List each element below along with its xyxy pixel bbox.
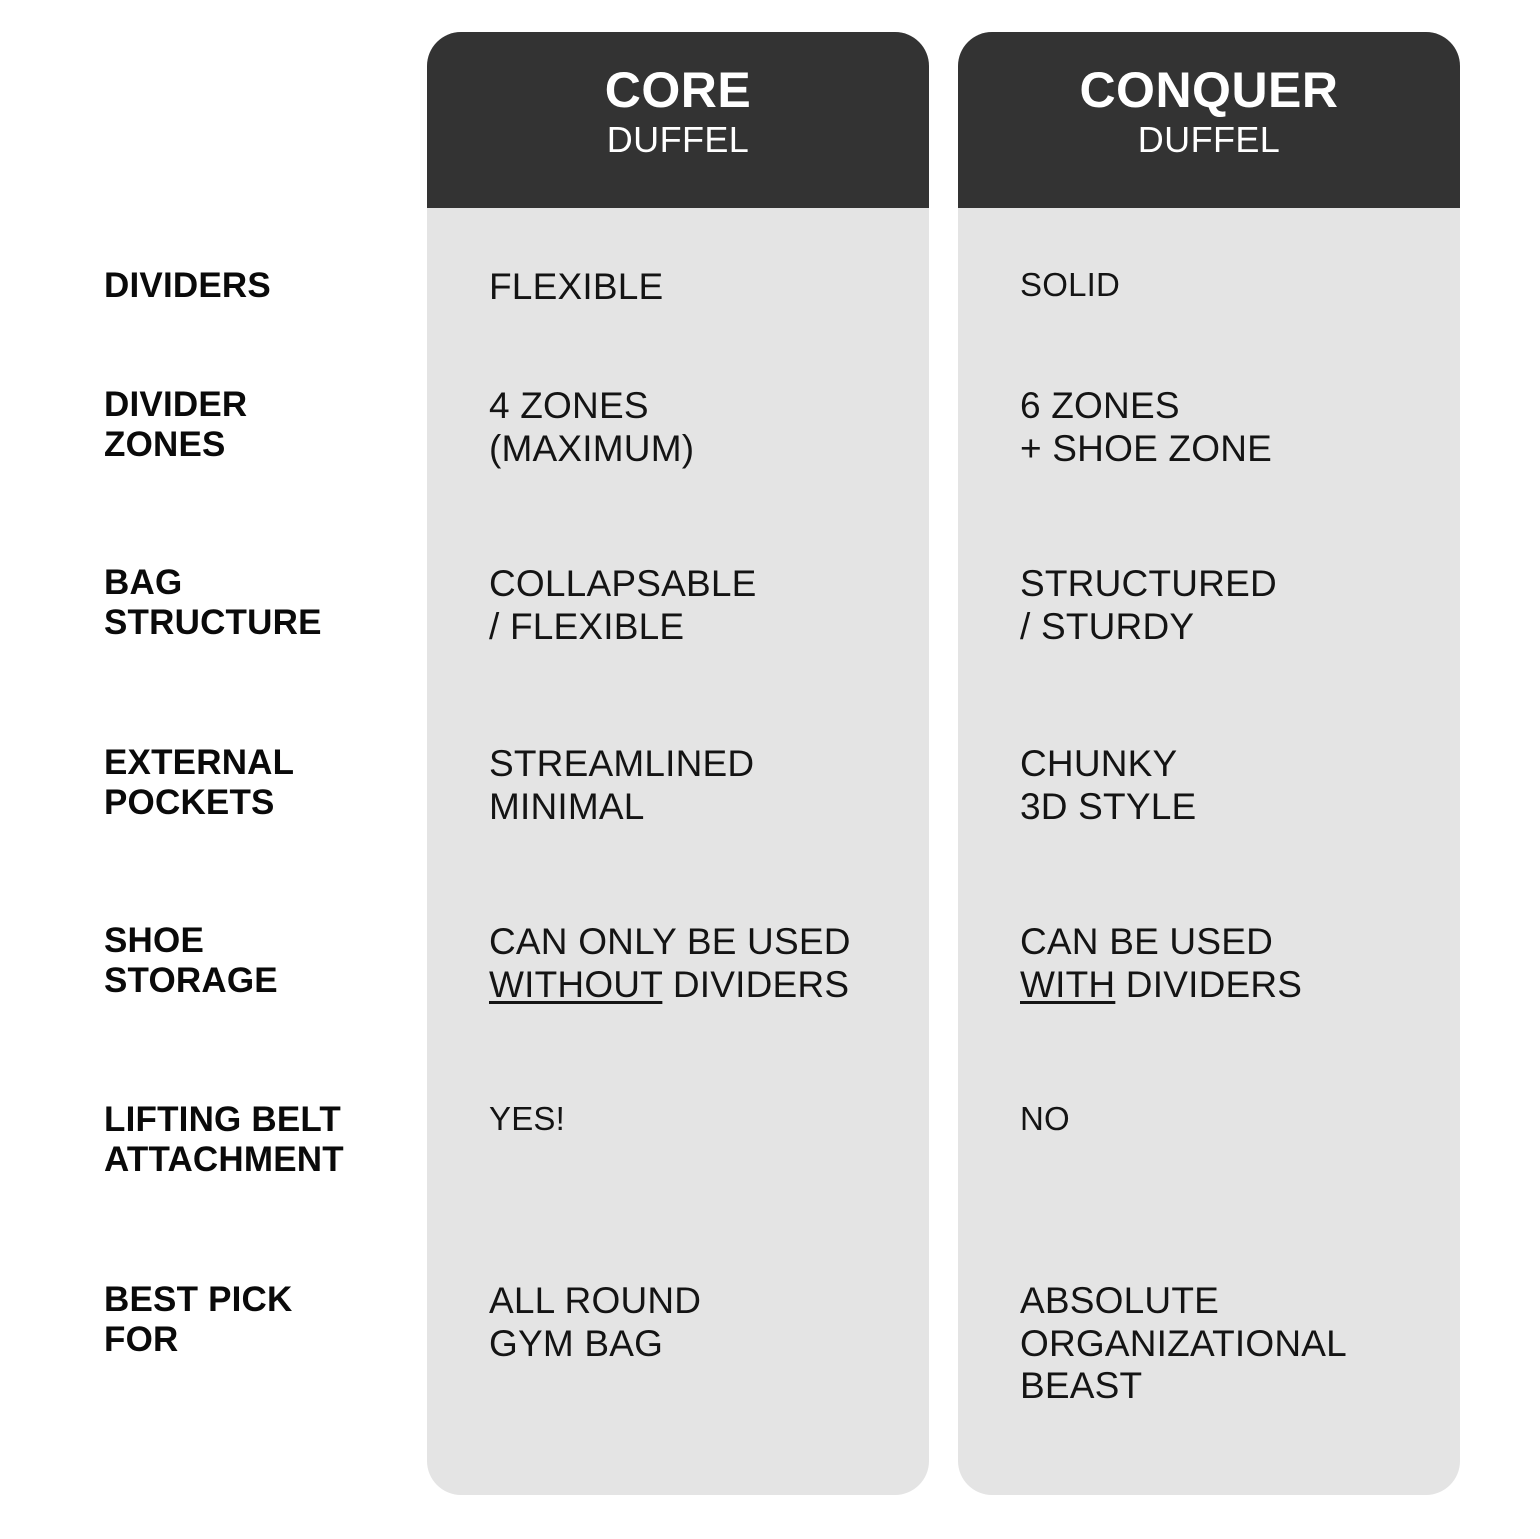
- text-line: / FLEXIBLE: [489, 606, 919, 649]
- emphasis-underline: WITHOUT: [489, 964, 662, 1005]
- cell-core: ALL ROUNDGYM BAG: [489, 1280, 919, 1365]
- cell-conquer: NO: [1020, 1100, 1450, 1138]
- row-label: SHOESTORAGE: [104, 921, 414, 1001]
- row-label: LIFTING BELTATTACHMENT: [104, 1100, 414, 1180]
- cell-core: 4 ZONES(MAXIMUM): [489, 385, 919, 470]
- text-line: / STURDY: [1020, 606, 1450, 649]
- text-line: + SHOE ZONE: [1020, 428, 1450, 471]
- cell-conquer: ABSOLUTEORGANIZATIONALBEAST: [1020, 1280, 1450, 1408]
- text-line: ATTACHMENT: [104, 1140, 414, 1180]
- text-line: STRUCTURED: [1020, 563, 1450, 606]
- comparison-rows: DIVIDERSFLEXIBLESOLIDDIVIDERZONES4 ZONES…: [0, 0, 1540, 1539]
- cell-conquer: STRUCTURED/ STURDY: [1020, 563, 1450, 648]
- text-line: DIVIDERS: [104, 266, 414, 306]
- text-line: POCKETS: [104, 783, 414, 823]
- cell-core: YES!: [489, 1100, 919, 1138]
- text-line: FLEXIBLE: [489, 266, 919, 309]
- cell-core: CAN ONLY BE USEDWITHOUT DIVIDERS: [489, 921, 919, 1006]
- text-line: BEAST: [1020, 1365, 1450, 1408]
- cell-conquer: CAN BE USEDWITH DIVIDERS: [1020, 921, 1450, 1006]
- text-line: GYM BAG: [489, 1323, 919, 1366]
- text-line: CHUNKY: [1020, 743, 1450, 786]
- text-line: YES!: [489, 1100, 919, 1138]
- text-line: WITHOUT DIVIDERS: [489, 964, 919, 1007]
- row-label: DIVIDERZONES: [104, 385, 414, 465]
- row-label: DIVIDERS: [104, 266, 414, 306]
- text-line: NO: [1020, 1100, 1450, 1138]
- text-line: ORGANIZATIONAL: [1020, 1323, 1450, 1366]
- text-line: (MAXIMUM): [489, 428, 919, 471]
- text-line: COLLAPSABLE: [489, 563, 919, 606]
- text-line: ZONES: [104, 425, 414, 465]
- row-label: EXTERNALPOCKETS: [104, 743, 414, 823]
- cell-conquer: SOLID: [1020, 266, 1450, 304]
- text-line: ABSOLUTE: [1020, 1280, 1450, 1323]
- text-line: 4 ZONES: [489, 385, 919, 428]
- text-line: STRUCTURE: [104, 603, 414, 643]
- text-line: EXTERNAL: [104, 743, 414, 783]
- text-line: 6 ZONES: [1020, 385, 1450, 428]
- text-line: 3D STYLE: [1020, 786, 1450, 829]
- row-label: BAGSTRUCTURE: [104, 563, 414, 643]
- text-line: LIFTING BELT: [104, 1100, 414, 1140]
- text-line: WITH DIVIDERS: [1020, 964, 1450, 1007]
- cell-core: STREAMLINEDMINIMAL: [489, 743, 919, 828]
- text-line: SHOE: [104, 921, 414, 961]
- cell-conquer: 6 ZONES+ SHOE ZONE: [1020, 385, 1450, 470]
- text-line: CAN ONLY BE USED: [489, 921, 919, 964]
- text-line: FOR: [104, 1320, 414, 1360]
- text-line: BAG: [104, 563, 414, 603]
- text-line: STREAMLINED: [489, 743, 919, 786]
- text-line: ALL ROUND: [489, 1280, 919, 1323]
- text-line: CAN BE USED: [1020, 921, 1450, 964]
- comparison-table: CORE DUFFEL CONQUER DUFFEL DIVIDERSFLEXI…: [0, 0, 1540, 1539]
- cell-core: FLEXIBLE: [489, 266, 919, 309]
- text-line: DIVIDER: [104, 385, 414, 425]
- text-line: SOLID: [1020, 266, 1450, 304]
- cell-core: COLLAPSABLE/ FLEXIBLE: [489, 563, 919, 648]
- text-line: BEST PICK: [104, 1280, 414, 1320]
- text-line: MINIMAL: [489, 786, 919, 829]
- cell-conquer: CHUNKY3D STYLE: [1020, 743, 1450, 828]
- text-line: STORAGE: [104, 961, 414, 1001]
- emphasis-underline: WITH: [1020, 964, 1115, 1005]
- row-label: BEST PICKFOR: [104, 1280, 414, 1360]
